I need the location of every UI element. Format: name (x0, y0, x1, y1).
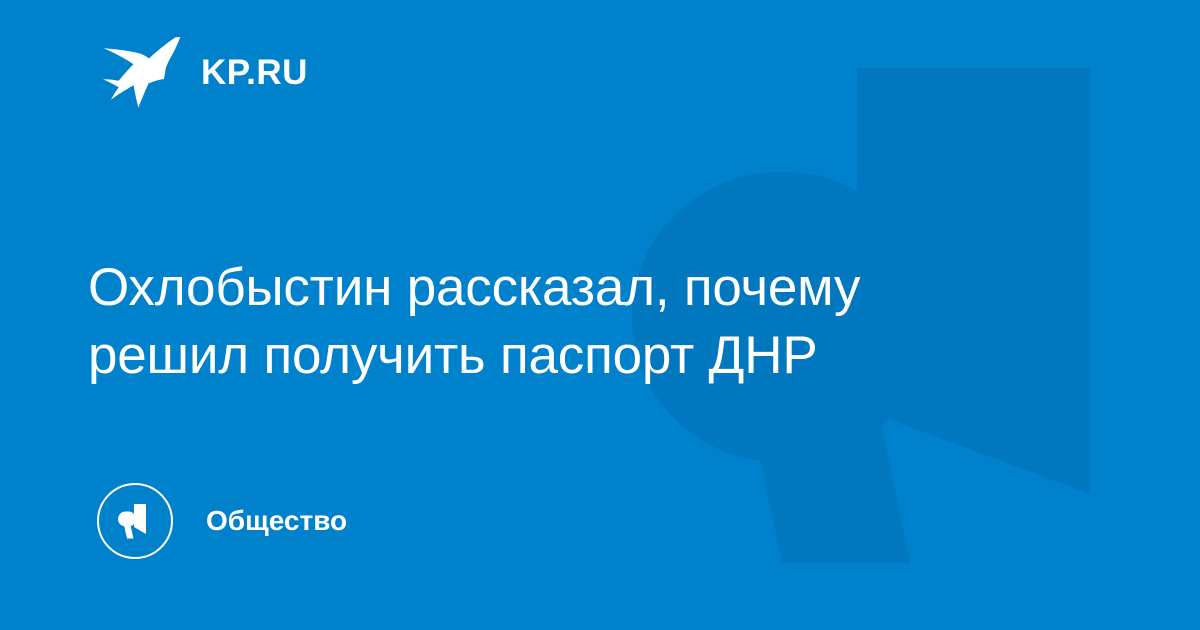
rubric-label: Общество (206, 507, 347, 535)
swallow-bird-icon (103, 36, 181, 108)
rubric-badge[interactable]: Общество (97, 483, 347, 559)
megaphone-icon (113, 501, 157, 541)
rubric-icon-circle (97, 483, 173, 559)
share-card: KP.RU Охлобыстин рассказал, почему решил… (0, 0, 1200, 630)
page-title: Охлобыстин рассказал, почему решил получ… (88, 254, 1018, 390)
brand-name: KP.RU (201, 55, 308, 90)
brand[interactable]: KP.RU (103, 36, 308, 108)
